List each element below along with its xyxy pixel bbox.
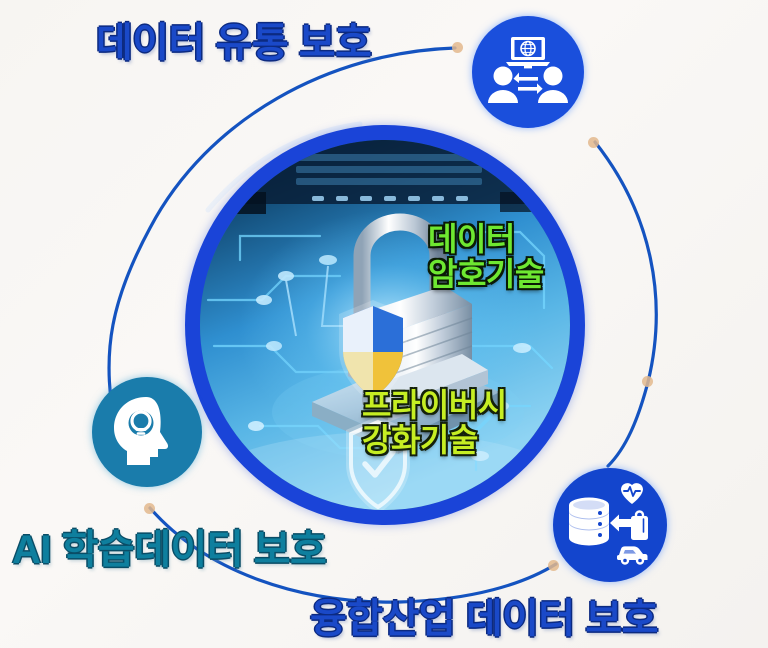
node-ai-learning-data[interactable] — [92, 377, 202, 487]
infographic-canvas: 데이터 암호기술 프라이버시 강화기술 — [0, 0, 768, 648]
caption-ai-learning-data: AI 학습데이터 보호 — [12, 517, 326, 575]
caption-data-distribution: 데이터 유통 보호 — [96, 10, 371, 68]
database-industry-icon — [565, 480, 655, 570]
decor-dot — [642, 376, 653, 387]
center-ring — [185, 125, 585, 525]
decor-dot — [588, 137, 599, 148]
decor-dot — [452, 42, 463, 53]
caption-converged-industry-data: 융합산업 데이터 보호 — [310, 586, 658, 644]
people-data-exchange-icon — [485, 29, 571, 115]
label-data-encryption: 데이터 암호기술 — [428, 222, 544, 291]
node-converged-industry-data[interactable] — [553, 468, 667, 582]
label-privacy-enhancing: 프라이버시 강화기술 — [362, 388, 507, 457]
decor-dot — [548, 560, 559, 571]
node-data-distribution[interactable] — [472, 16, 584, 128]
arc-right — [595, 142, 656, 466]
head-lightbulb-icon — [110, 395, 184, 469]
decor-dot — [144, 503, 155, 514]
